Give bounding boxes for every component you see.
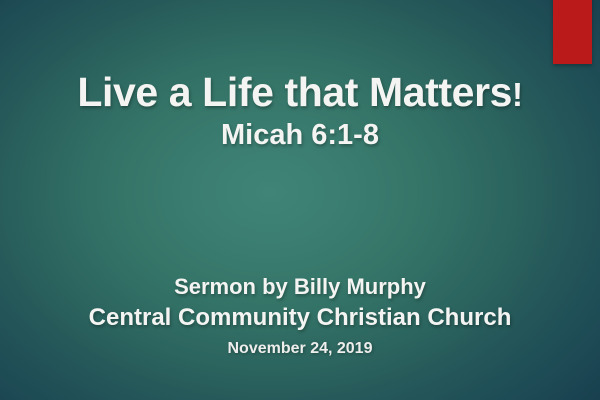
red-accent-bar [553,0,592,64]
slide-title-text: Live a Life that Matters [77,69,512,115]
slide-title-punctuation: ! [512,76,523,113]
date-line: November 24, 2019 [0,341,600,357]
organization-line: Central Community Christian Church [0,306,600,330]
title-block: Live a Life that Matters! Micah 6:1-8 [0,72,600,150]
presentation-slide: Live a Life that Matters! Micah 6:1-8 Se… [0,0,600,400]
credits-block: Sermon by Billy Murphy Central Community… [0,276,600,357]
slide-title: Live a Life that Matters! [0,72,600,113]
speaker-line: Sermon by Billy Murphy [0,276,600,298]
scripture-reference: Micah 6:1-8 [0,121,600,150]
